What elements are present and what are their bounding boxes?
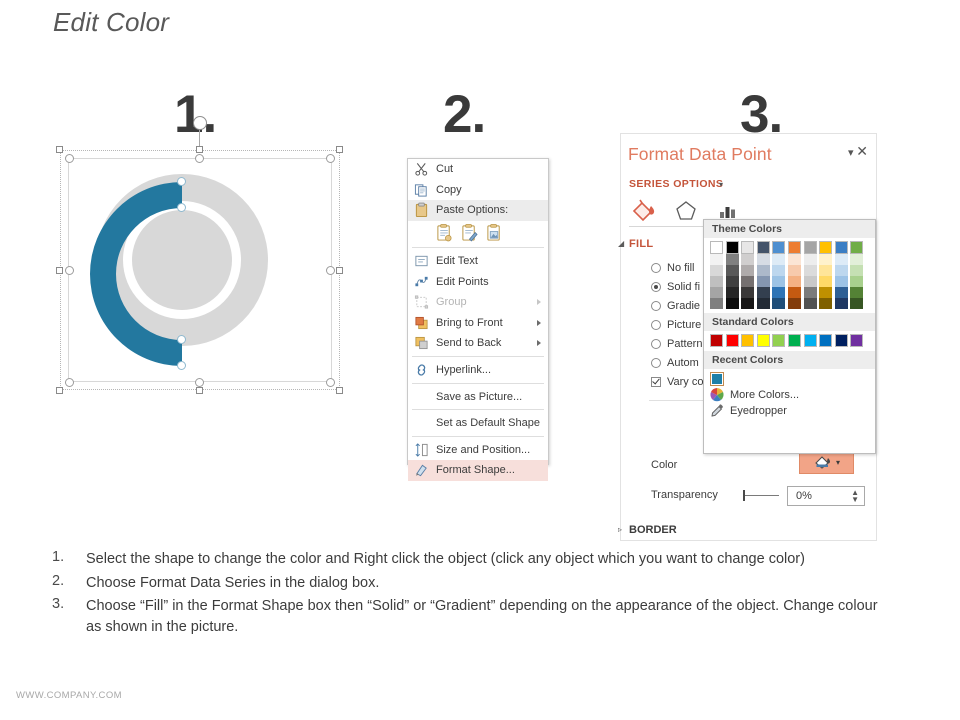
menu-item-format-shape[interactable]: Format Shape... [408, 460, 548, 481]
theme-colors-grid[interactable] [704, 238, 875, 309]
theme-color-shade-swatch[interactable] [710, 276, 723, 287]
standard-color-swatch[interactable] [788, 334, 801, 347]
size-position-icon [414, 442, 429, 457]
standard-color-swatch[interactable] [804, 334, 817, 347]
standard-colors-header: Standard Colors [704, 313, 875, 331]
color-wheel-icon [710, 388, 724, 402]
menu-item-label: Bring to Front [436, 317, 503, 329]
context-menu[interactable]: Cut Copy Paste Options: [407, 158, 549, 465]
theme-color-column-4[interactable] [772, 241, 785, 309]
more-colors-item[interactable]: More Colors... [704, 387, 875, 403]
standard-color-swatch[interactable] [819, 334, 832, 347]
theme-color-shade-swatch[interactable] [757, 265, 770, 276]
theme-color-shade-swatch[interactable] [757, 254, 770, 265]
theme-color-column-7[interactable] [819, 241, 832, 309]
transparency-value: 0% [788, 490, 812, 502]
theme-color-column-2[interactable] [741, 241, 754, 309]
resize-handle-top-left[interactable] [56, 146, 63, 153]
theme-color-shade-swatch[interactable] [772, 298, 785, 309]
menu-item-label: Edit Points [436, 276, 489, 288]
theme-color-shade-swatch[interactable] [726, 276, 739, 287]
send-to-back-icon [414, 336, 429, 351]
slide-root: Edit Color 1. 2. 3. [0, 0, 960, 720]
theme-color-shade-swatch[interactable] [850, 265, 863, 276]
theme-color-shade-swatch[interactable] [819, 254, 832, 265]
recent-colors-row[interactable] [704, 369, 875, 387]
instructions-list: 1. Select the shape to change the color … [52, 549, 882, 640]
theme-color-column-6[interactable] [804, 241, 817, 309]
option-label: No fill [667, 262, 695, 274]
spinner-arrows-icon[interactable]: ▲▼ [851, 489, 859, 503]
theme-color-shade-swatch[interactable] [726, 298, 739, 309]
border-header-label: BORDER [629, 524, 677, 536]
menu-item-paste-options[interactable]: Paste Options: [408, 200, 548, 221]
fill-bucket-icon[interactable] [629, 196, 659, 226]
submenu-arrow-icon [537, 299, 541, 305]
theme-color-swatch[interactable] [772, 241, 785, 254]
more-colors-label: More Colors... [730, 389, 799, 401]
arc-handle-outer-start[interactable] [177, 177, 186, 186]
theme-color-shade-swatch[interactable] [741, 276, 754, 287]
eyedropper-item[interactable]: Eyedropper [704, 403, 875, 419]
recent-color-swatch[interactable] [710, 372, 724, 386]
chevron-down-icon[interactable]: ▾ [836, 458, 840, 467]
menu-item-label: Save as Picture... [436, 391, 522, 403]
radio-picture-fill[interactable]: Picture [651, 319, 701, 331]
eyedropper-label: Eyedropper [730, 405, 787, 417]
theme-color-shade-swatch[interactable] [819, 287, 832, 298]
theme-color-shade-swatch[interactable] [726, 254, 739, 265]
standard-color-swatch[interactable] [741, 334, 754, 347]
eyedropper-icon [710, 404, 724, 418]
menu-item-send-to-back[interactable]: Send to Back [408, 333, 548, 354]
paste-options-row[interactable] [408, 221, 548, 245]
edit-text-icon [414, 254, 429, 269]
menu-separator [412, 247, 544, 248]
theme-color-shade-swatch[interactable] [819, 276, 832, 287]
theme-color-shade-swatch[interactable] [710, 287, 723, 298]
inner-handle-top-left[interactable] [65, 154, 74, 163]
standard-color-swatch[interactable] [835, 334, 848, 347]
series-options-chevron-icon[interactable]: ▾ [719, 180, 723, 189]
radio-no-fill[interactable]: No fill [651, 262, 695, 274]
edit-points-icon [414, 274, 429, 289]
theme-color-shade-swatch[interactable] [726, 265, 739, 276]
menu-item-set-as-default-shape[interactable]: Set as Default Shape [408, 413, 548, 434]
theme-color-shade-swatch[interactable] [710, 265, 723, 276]
instruction-text: Select the shape to change the color and… [86, 549, 805, 570]
resize-handle-top-center[interactable] [196, 146, 203, 153]
radio-indicator [651, 339, 661, 349]
menu-item-size-and-position[interactable]: Size and Position... [408, 440, 548, 461]
bring-to-front-icon [414, 315, 429, 330]
theme-color-shade-swatch[interactable] [788, 265, 801, 276]
step-number-2: 2. [443, 88, 485, 141]
theme-color-shade-swatch[interactable] [710, 298, 723, 309]
menu-item-label: Cut [436, 163, 453, 175]
standard-color-swatch[interactable] [850, 334, 863, 347]
menu-separator [412, 383, 544, 384]
theme-color-shade-swatch[interactable] [804, 254, 817, 265]
rotation-handle[interactable] [193, 116, 207, 130]
standard-color-swatch[interactable] [757, 334, 770, 347]
panel-selected-shape [60, 150, 340, 390]
transparency-slider-track[interactable] [745, 495, 779, 496]
theme-color-shade-swatch[interactable] [757, 298, 770, 309]
theme-color-column-1[interactable] [726, 241, 739, 309]
inner-handle-bottom-left[interactable] [65, 378, 74, 387]
radio-indicator [651, 358, 661, 368]
step-number-1: 1. [174, 88, 216, 141]
format-shape-icon [414, 463, 429, 478]
menu-item-label: Paste Options: [436, 204, 508, 216]
radio-automatic-fill[interactable]: Autom [651, 357, 699, 369]
theme-color-column-8[interactable] [835, 241, 848, 309]
menu-item-label: Copy [436, 184, 462, 196]
theme-color-shade-swatch[interactable] [835, 276, 848, 287]
theme-colors-header: Theme Colors [704, 220, 875, 238]
theme-color-shade-swatch[interactable] [804, 276, 817, 287]
menu-item-label: Edit Text [436, 255, 478, 267]
close-icon[interactable]: ✕ [856, 144, 868, 158]
resize-handle-middle-right[interactable] [336, 267, 343, 274]
theme-color-swatch[interactable] [741, 241, 754, 254]
theme-color-shade-swatch[interactable] [835, 265, 848, 276]
instruction-number: 1. [52, 549, 86, 570]
option-label: Gradie [667, 300, 700, 312]
fill-bucket-icon [813, 454, 833, 471]
instruction-row: 2. Choose Format Data Series in the dial… [52, 573, 882, 594]
theme-color-shade-swatch[interactable] [819, 265, 832, 276]
inner-handle-middle-right[interactable] [326, 266, 335, 275]
menu-item-label: Set as Default Shape [436, 417, 540, 429]
instruction-row: 3. Choose “Fill” in the Format Shape box… [52, 596, 882, 637]
transparency-label: Transparency [651, 489, 718, 501]
theme-color-shade-swatch[interactable] [741, 265, 754, 276]
theme-color-shade-swatch[interactable] [850, 254, 863, 265]
standard-color-swatch[interactable] [710, 334, 723, 347]
submenu-arrow-icon [537, 320, 541, 326]
clipboard-icon [414, 203, 429, 218]
menu-separator [412, 436, 544, 437]
submenu-arrow-icon [537, 340, 541, 346]
paste-picture-icon[interactable] [486, 223, 503, 242]
radio-gradient-fill[interactable]: Gradie [651, 300, 700, 312]
menu-separator [412, 356, 544, 357]
radio-indicator [651, 301, 661, 311]
menu-item-copy[interactable]: Copy [408, 180, 548, 201]
inner-handle-middle-left[interactable] [65, 266, 74, 275]
theme-color-shade-swatch[interactable] [710, 254, 723, 265]
theme-color-swatch[interactable] [804, 241, 817, 254]
menu-item-edit-points[interactable]: Edit Points [408, 271, 548, 292]
transparency-spinner[interactable]: 0% ▲▼ [787, 486, 865, 506]
theme-color-shade-swatch[interactable] [850, 287, 863, 298]
option-label: Pattern [667, 338, 702, 350]
copy-icon [414, 182, 429, 197]
theme-color-swatch[interactable] [819, 241, 832, 254]
donut-chart[interactable] [78, 158, 318, 380]
expand-triangle-icon: ◢ [618, 239, 624, 248]
donut-blue-segment[interactable] [78, 158, 318, 380]
footer-url: WWW.COMPANY.COM [16, 690, 122, 701]
menu-item-label: Group [436, 296, 467, 308]
theme-color-column-0[interactable] [710, 241, 723, 309]
menu-item-label: Size and Position... [436, 444, 530, 456]
pane-title: Format Data Point [628, 144, 772, 165]
standard-color-swatch[interactable] [772, 334, 785, 347]
menu-item-label: Format Shape... [436, 464, 515, 476]
resize-handle-top-right[interactable] [336, 146, 343, 153]
inner-handle-top-right[interactable] [326, 154, 335, 163]
theme-color-shade-swatch[interactable] [835, 298, 848, 309]
resize-handle-bottom-right[interactable] [336, 387, 343, 394]
arc-handle-inner-start[interactable] [177, 203, 186, 212]
instruction-text: Choose Format Data Series in the dialog … [86, 573, 379, 594]
scissors-icon [414, 162, 429, 177]
theme-color-shade-swatch[interactable] [804, 265, 817, 276]
theme-color-swatch[interactable] [757, 241, 770, 254]
theme-color-shade-swatch[interactable] [757, 276, 770, 287]
instruction-number: 3. [52, 596, 86, 637]
color-label: Color [651, 459, 677, 471]
checkbox-indicator [651, 377, 661, 387]
option-label: Solid fi [667, 281, 700, 293]
radio-pattern-fill[interactable]: Pattern [651, 338, 702, 350]
menu-item-label: Send to Back [436, 337, 501, 349]
radio-indicator [651, 263, 661, 273]
recent-colors-header: Recent Colors [704, 351, 875, 369]
paste-merge-icon[interactable] [461, 223, 478, 242]
arc-handle-inner-end[interactable] [177, 335, 186, 344]
group-icon [414, 295, 429, 310]
theme-color-swatch[interactable] [726, 241, 739, 254]
instruction-text: Choose “Fill” in the Format Shape box th… [86, 596, 882, 637]
theme-color-shade-swatch[interactable] [835, 287, 848, 298]
theme-color-swatch[interactable] [835, 241, 848, 254]
menu-item-edit-text[interactable]: Edit Text [408, 251, 548, 272]
inner-handle-bottom-right[interactable] [326, 378, 335, 387]
menu-item-group: Group [408, 292, 548, 313]
theme-color-column-3[interactable] [757, 241, 770, 309]
resize-handle-bottom-center[interactable] [196, 387, 203, 394]
standard-color-swatch[interactable] [726, 334, 739, 347]
theme-color-shade-swatch[interactable] [741, 298, 754, 309]
radio-indicator [651, 282, 661, 292]
theme-color-swatch[interactable] [788, 241, 801, 254]
theme-color-shade-swatch[interactable] [850, 276, 863, 287]
hyperlink-icon [414, 363, 429, 378]
checkbox-vary-colors[interactable]: Vary co [651, 376, 703, 388]
theme-color-column-5[interactable] [788, 241, 801, 309]
menu-item-cut[interactable]: Cut [408, 159, 548, 180]
border-section-header[interactable]: ▹ BORDER [629, 524, 677, 536]
option-label: Vary co [667, 376, 703, 388]
paste-keep-formatting-icon[interactable] [436, 223, 453, 242]
theme-color-shade-swatch[interactable] [757, 287, 770, 298]
theme-color-shade-swatch[interactable] [726, 287, 739, 298]
theme-color-shade-swatch[interactable] [772, 276, 785, 287]
theme-color-column-9[interactable] [850, 241, 863, 309]
theme-color-shade-swatch[interactable] [772, 254, 785, 265]
resize-handle-middle-left[interactable] [56, 267, 63, 274]
theme-color-shade-swatch[interactable] [788, 287, 801, 298]
theme-color-shade-swatch[interactable] [741, 254, 754, 265]
standard-colors-grid[interactable] [704, 331, 875, 347]
radio-indicator [651, 320, 661, 330]
collapse-triangle-icon: ▹ [618, 525, 622, 534]
transparency-slider-knob[interactable] [743, 490, 745, 501]
format-data-point-pane: Format Data Point ▾ ✕ SERIES OPTIONS ▾ ◢… [620, 133, 877, 541]
theme-color-shade-swatch[interactable] [772, 265, 785, 276]
fill-section-header[interactable]: ◢ FILL [629, 238, 653, 250]
theme-color-shade-swatch[interactable] [788, 254, 801, 265]
option-label: Autom [667, 357, 699, 369]
theme-color-shade-swatch[interactable] [788, 298, 801, 309]
theme-color-swatch[interactable] [710, 241, 723, 254]
arc-handle-outer-end[interactable] [177, 361, 186, 370]
theme-color-shade-swatch[interactable] [788, 276, 801, 287]
instruction-row: 1. Select the shape to change the color … [52, 549, 882, 570]
effects-pentagon-icon[interactable] [671, 196, 701, 226]
menu-separator [412, 409, 544, 410]
radio-solid-fill[interactable]: Solid fi [651, 281, 700, 293]
menu-item-hyperlink[interactable]: Hyperlink... [408, 360, 548, 381]
instruction-number: 2. [52, 573, 86, 594]
menu-item-label: Hyperlink... [436, 364, 491, 376]
page-title: Edit Color [53, 7, 169, 38]
theme-color-shade-swatch[interactable] [772, 287, 785, 298]
menu-item-save-as-picture[interactable]: Save as Picture... [408, 386, 548, 407]
theme-color-swatch[interactable] [850, 241, 863, 254]
theme-color-shade-swatch[interactable] [835, 254, 848, 265]
color-picker-dropdown[interactable]: Theme Colors Standard Colors Recent Colo… [703, 219, 876, 454]
fill-header-label: FILL [629, 238, 653, 250]
option-label: Picture [667, 319, 701, 331]
theme-color-shade-swatch[interactable] [850, 298, 863, 309]
menu-item-bring-to-front[interactable]: Bring to Front [408, 313, 548, 334]
theme-color-shade-swatch[interactable] [804, 287, 817, 298]
resize-handle-bottom-left[interactable] [56, 387, 63, 394]
series-options-label[interactable]: SERIES OPTIONS [629, 178, 723, 190]
theme-color-shade-swatch[interactable] [804, 298, 817, 309]
theme-color-shade-swatch[interactable] [819, 298, 832, 309]
theme-color-shade-swatch[interactable] [741, 287, 754, 298]
